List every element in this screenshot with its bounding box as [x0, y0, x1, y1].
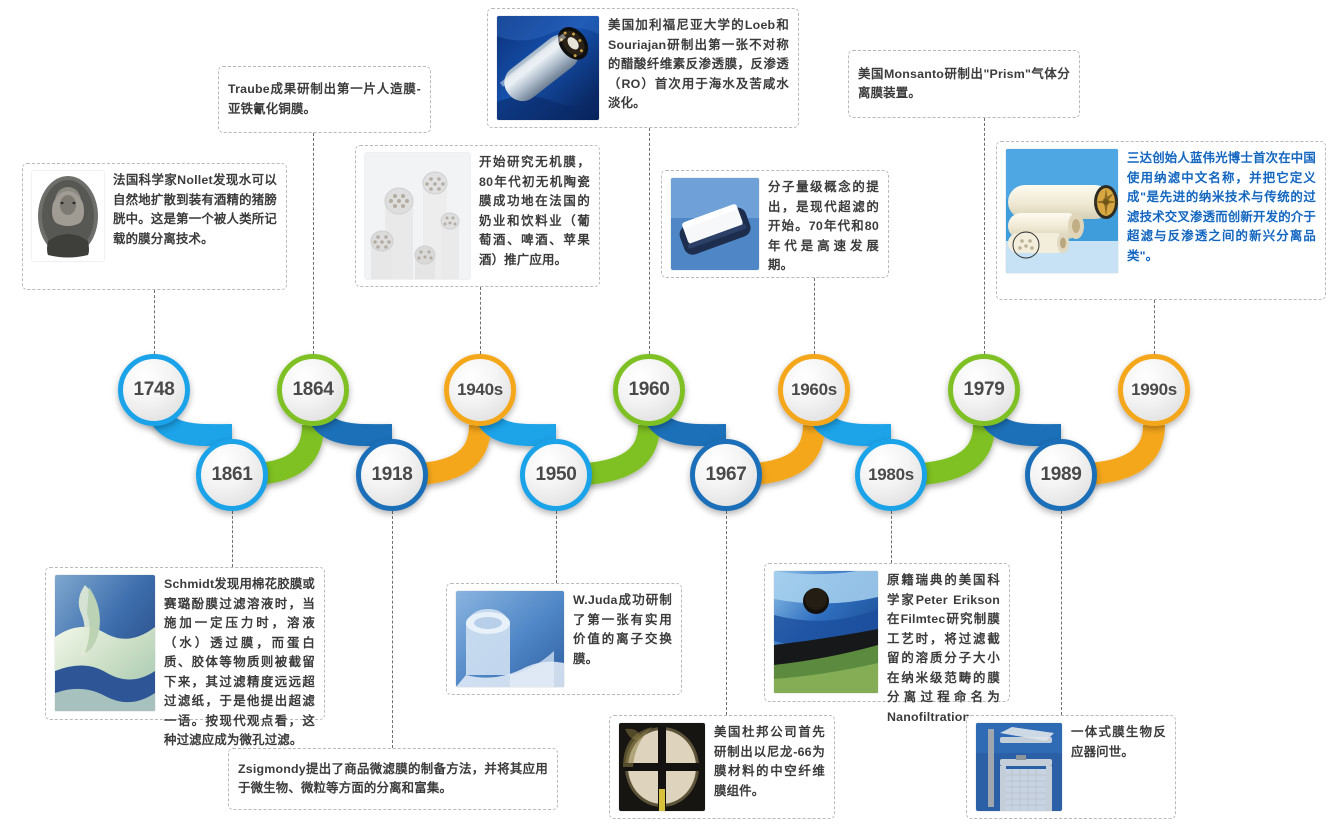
- leader-1918: [392, 511, 393, 748]
- timeline-node-label: 1979: [963, 379, 1004, 401]
- timeline-node-1950[interactable]: 1950: [520, 439, 592, 511]
- callout-1980s[interactable]: 原籍瑞典的美国科学家Peter Erikson在Filmtec研究制膜工艺时，将…: [764, 563, 1010, 702]
- timeline-track: 1748 1861 1864 1918 1940s 1950 1960 1967…: [0, 330, 1340, 540]
- timeline-node-label: 1989: [1040, 464, 1081, 486]
- timeline-node-1960s[interactable]: 1960s: [778, 354, 850, 426]
- callout-text: 分子量级概念的提出，是现代超滤的开始。70年代和80年代是高速发展期。: [768, 178, 879, 276]
- callout-text: Schmidt发现用棉花胶膜或赛璐酚膜过滤溶液时，当施加一定压力时，溶液（水）透…: [164, 575, 315, 751]
- membrane-pore-closeup-thumbnail: [774, 571, 878, 693]
- leader-1864: [313, 133, 314, 354]
- callout-1950[interactable]: W.Juda成功研制了第一张有实用价值的离子交换膜。: [446, 583, 682, 695]
- callout-1960[interactable]: 美国加利福尼亚大学的Loeb和Souriajan研制出第一张不对称的醋酸纤维素反…: [487, 8, 799, 128]
- callout-text: Zsigmondy提出了商品微滤膜的制备方法，并将其应用于微生物、微粒等方面的分…: [238, 760, 548, 799]
- timeline-node-label: 1967: [705, 464, 746, 486]
- timeline-node-1748[interactable]: 1748: [118, 354, 190, 426]
- timeline-node-1990s[interactable]: 1990s: [1118, 354, 1190, 426]
- leader-1967: [726, 511, 727, 715]
- callout-1940s[interactable]: 开始研究无机膜，80年代初无机陶瓷膜成功地在法国的奶业和饮料业（葡萄酒、啤酒、苹…: [355, 145, 600, 287]
- timeline-node-1861[interactable]: 1861: [196, 439, 268, 511]
- timeline-node-label: 1918: [371, 464, 412, 486]
- callout-text: 原籍瑞典的美国科学家Peter Erikson在Filmtec研究制膜工艺时，将…: [887, 571, 1000, 727]
- callout-1918[interactable]: Zsigmondy提出了商品微滤膜的制备方法，并将其应用于微生物、微粒等方面的分…: [228, 748, 558, 810]
- timeline-node-1989[interactable]: 1989: [1025, 439, 1097, 511]
- callout-text: 三达创始人蓝伟光博士首次在中国使用纳滤中文名称，并把它定义成"是先进的纳米技术与…: [1127, 149, 1316, 266]
- timeline-node-label: 1980s: [868, 465, 914, 485]
- callout-text: 开始研究无机膜，80年代初无机陶瓷膜成功地在法国的奶业和饮料业（葡萄酒、啤酒、苹…: [479, 153, 590, 270]
- membrane-bioreactor-thumbnail: [976, 723, 1062, 811]
- timeline-node-label: 1864: [292, 379, 333, 401]
- timeline-node-label: 1960s: [791, 380, 837, 400]
- ion-exchange-membrane-thumbnail: [456, 591, 564, 687]
- callout-text: W.Juda成功研制了第一张有实用价值的离子交换膜。: [573, 591, 672, 669]
- timeline-node-label: 1748: [133, 379, 174, 401]
- callout-text: 美国Monsanto研制出"Prism"气体分离膜装置。: [858, 65, 1070, 104]
- cellulose-film-thumbnail: [55, 575, 155, 711]
- timeline-node-label: 1861: [211, 464, 252, 486]
- callout-1864[interactable]: Traube成果研制出第一片人造膜-亚铁氰化铜膜。: [218, 66, 431, 133]
- ro-membrane-element-thumbnail: [497, 16, 599, 120]
- timeline-node-1940s[interactable]: 1940s: [444, 354, 516, 426]
- callout-text: 一体式膜生物反应器问世。: [1071, 723, 1166, 762]
- hollow-fiber-module-cross-section-thumbnail: [619, 723, 705, 811]
- portrait-nollet-thumbnail: [32, 171, 104, 261]
- callout-1979[interactable]: 美国Monsanto研制出"Prism"气体分离膜装置。: [848, 50, 1080, 118]
- timeline-diagram: 1748 1861 1864 1918 1940s 1950 1960 1967…: [0, 0, 1340, 840]
- leader-1989: [1061, 511, 1062, 715]
- callout-text: 法国科学家Nollet发现水可以自然地扩散到装有酒精的猪膀胱中。这是第一个被人类…: [113, 171, 277, 249]
- leader-1979: [984, 118, 985, 354]
- timeline-node-label: 1940s: [457, 380, 503, 400]
- timeline-node-label: 1990s: [1131, 380, 1177, 400]
- callout-text: 美国杜邦公司首先研制出以尼龙-66为膜材料的中空纤维膜组件。: [714, 723, 825, 801]
- callout-1960s[interactable]: 分子量级概念的提出，是现代超滤的开始。70年代和80年代是高速发展期。: [661, 170, 889, 278]
- timeline-node-1980s[interactable]: 1980s: [855, 439, 927, 511]
- callout-1861[interactable]: Schmidt发现用棉花胶膜或赛璐酚膜过滤溶液时，当施加一定压力时，溶液（水）透…: [45, 567, 325, 720]
- leader-1960: [649, 128, 650, 354]
- timeline-node-1960[interactable]: 1960: [613, 354, 685, 426]
- callout-1967[interactable]: 美国杜邦公司首先研制出以尼龙-66为膜材料的中空纤维膜组件。: [609, 715, 835, 819]
- callout-1990s[interactable]: 三达创始人蓝伟光博士首次在中国使用纳滤中文名称，并把它定义成"是先进的纳米技术与…: [996, 141, 1326, 300]
- ceramic-membrane-tubes-thumbnail: [365, 153, 470, 279]
- nanofiltration-modules-thumbnail: [1006, 149, 1118, 273]
- timeline-node-label: 1950: [535, 464, 576, 486]
- timeline-node-1979[interactable]: 1979: [948, 354, 1020, 426]
- timeline-node-1967[interactable]: 1967: [690, 439, 762, 511]
- callout-1989[interactable]: 一体式膜生物反应器问世。: [966, 715, 1176, 819]
- callout-text: 美国加利福尼亚大学的Loeb和Souriajan研制出第一张不对称的醋酸纤维素反…: [608, 16, 789, 114]
- callout-1748[interactable]: 法国科学家Nollet发现水可以自然地扩散到装有酒精的猪膀胱中。这是第一个被人类…: [22, 163, 287, 290]
- timeline-node-label: 1960: [628, 379, 669, 401]
- timeline-node-1864[interactable]: 1864: [277, 354, 349, 426]
- timeline-node-1918[interactable]: 1918: [356, 439, 428, 511]
- callout-text: Traube成果研制出第一片人造膜-亚铁氰化铜膜。: [228, 80, 421, 119]
- flat-sheet-membrane-thumbnail: [671, 178, 759, 270]
